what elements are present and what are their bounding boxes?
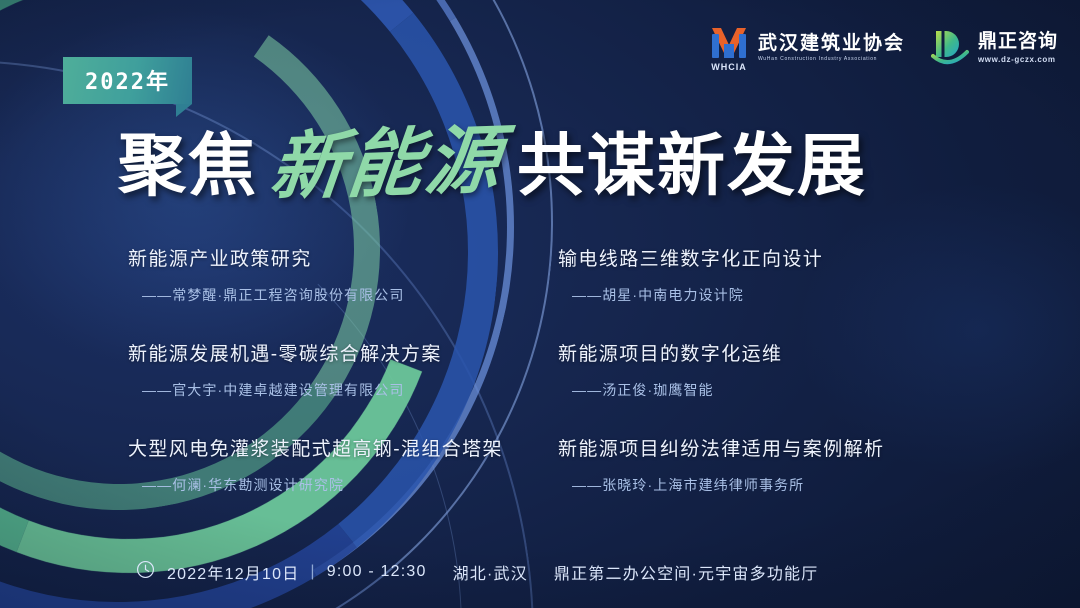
- title-part-one: 聚焦: [118, 110, 258, 209]
- session-speaker: ——张晓玲·上海市建纬律师事务所: [572, 475, 968, 495]
- logo-bar: WHCIA 武汉建筑业协会 WuHan Construction Industr…: [709, 26, 1058, 70]
- dingzheng-text-block: 鼎正咨询 www.dz-gczx.com: [978, 32, 1058, 64]
- title-highlight: 新能源: [266, 100, 509, 215]
- whcia-text-block: 武汉建筑业协会 WuHan Construction Industry Asso…: [758, 34, 905, 62]
- poster-root: WHCIA 武汉建筑业协会 WuHan Construction Industr…: [0, 0, 1080, 608]
- session-speaker: ——胡星·中南电力设计院: [572, 285, 968, 305]
- session-item: 新能源产业政策研究 ——常梦醒·鼎正工程咨询股份有限公司: [128, 244, 558, 339]
- session-speaker: ——汤正俊·珈鹰智能: [572, 380, 968, 400]
- whcia-logo: WHCIA 武汉建筑业协会 WuHan Construction Industr…: [709, 26, 905, 70]
- session-item: 输电线路三维数字化正向设计 ——胡星·中南电力设计院: [558, 244, 968, 339]
- page-title: 聚焦 新能源 共谋新发展: [118, 104, 867, 211]
- dingzheng-mark-icon: [931, 28, 969, 68]
- footer-info: 2022年12月10日 | 9:00 - 12:30 湖北·武汉 鼎正第二办公空…: [136, 560, 818, 584]
- session-speaker: ——官大宇·中建卓越建设管理有限公司: [142, 380, 558, 400]
- clock-icon: [136, 560, 155, 584]
- session-title: 新能源项目的数字化运维: [558, 339, 968, 366]
- whcia-name-en: WuHan Construction Industry Association: [758, 57, 905, 62]
- session-speaker: ——何澜·华东勘测设计研究院: [142, 475, 558, 495]
- whcia-mark-icon: WHCIA: [709, 26, 749, 70]
- session-speaker: ——常梦醒·鼎正工程咨询股份有限公司: [142, 285, 558, 305]
- dingzheng-url: www.dz-gczx.com: [978, 56, 1058, 64]
- footer-venue: 鼎正第二办公空间·元宇宙多功能厅: [554, 560, 819, 584]
- session-title: 新能源项目纠纷法律适用与案例解析: [558, 434, 968, 461]
- title-part-two: 共谋新发展: [517, 110, 867, 209]
- footer-separator: |: [310, 563, 315, 581]
- whcia-abbr-label: WHCIA: [711, 62, 747, 72]
- session-item: 新能源项目纠纷法律适用与案例解析 ——张晓玲·上海市建纬律师事务所: [558, 434, 968, 529]
- footer-time: 9:00 - 12:30: [327, 563, 427, 581]
- dingzheng-name-cn: 鼎正咨询: [978, 32, 1058, 51]
- session-list: 新能源产业政策研究 ——常梦醒·鼎正工程咨询股份有限公司 输电线路三维数字化正向…: [128, 244, 968, 529]
- session-title: 新能源产业政策研究: [128, 244, 558, 271]
- session-title: 大型风电免灌浆装配式超高钢-混组合塔架: [128, 434, 558, 461]
- footer-date: 2022年12月10日: [167, 560, 299, 584]
- session-title: 新能源发展机遇-零碳综合解决方案: [128, 339, 558, 366]
- session-item: 大型风电免灌浆装配式超高钢-混组合塔架 ——何澜·华东勘测设计研究院: [128, 434, 558, 529]
- year-badge: 2022年: [63, 57, 192, 104]
- footer-location: 湖北·武汉: [453, 560, 528, 584]
- session-item: 新能源发展机遇-零碳综合解决方案 ——官大宇·中建卓越建设管理有限公司: [128, 339, 558, 434]
- dingzheng-logo: 鼎正咨询 www.dz-gczx.com: [931, 28, 1058, 68]
- whcia-name-cn: 武汉建筑业协会: [758, 34, 905, 53]
- session-item: 新能源项目的数字化运维 ——汤正俊·珈鹰智能: [558, 339, 968, 434]
- session-title: 输电线路三维数字化正向设计: [558, 244, 968, 271]
